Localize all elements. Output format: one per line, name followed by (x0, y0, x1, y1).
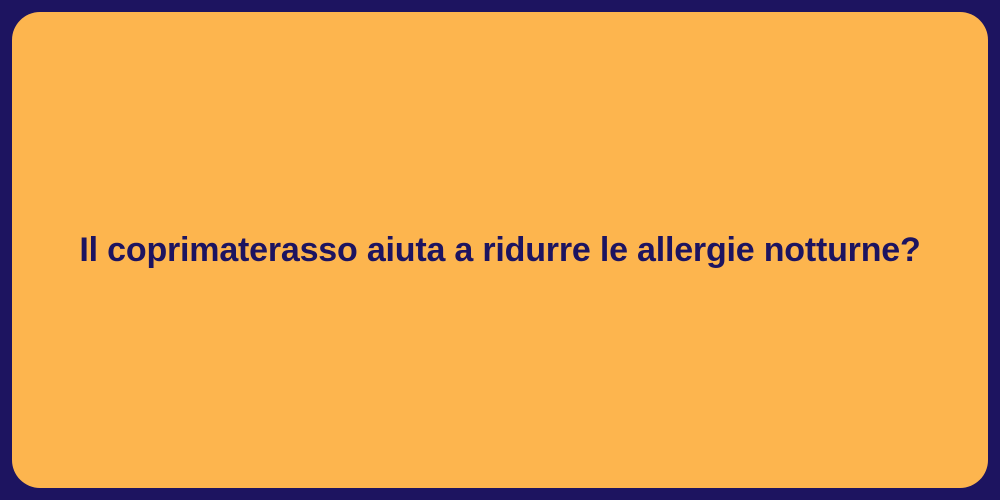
question-card: Il coprimaterasso aiuta a ridurre le all… (12, 12, 988, 488)
outer-frame: Il coprimaterasso aiuta a ridurre le all… (0, 0, 1000, 500)
headline-text: Il coprimaterasso aiuta a ridurre le all… (79, 229, 920, 272)
